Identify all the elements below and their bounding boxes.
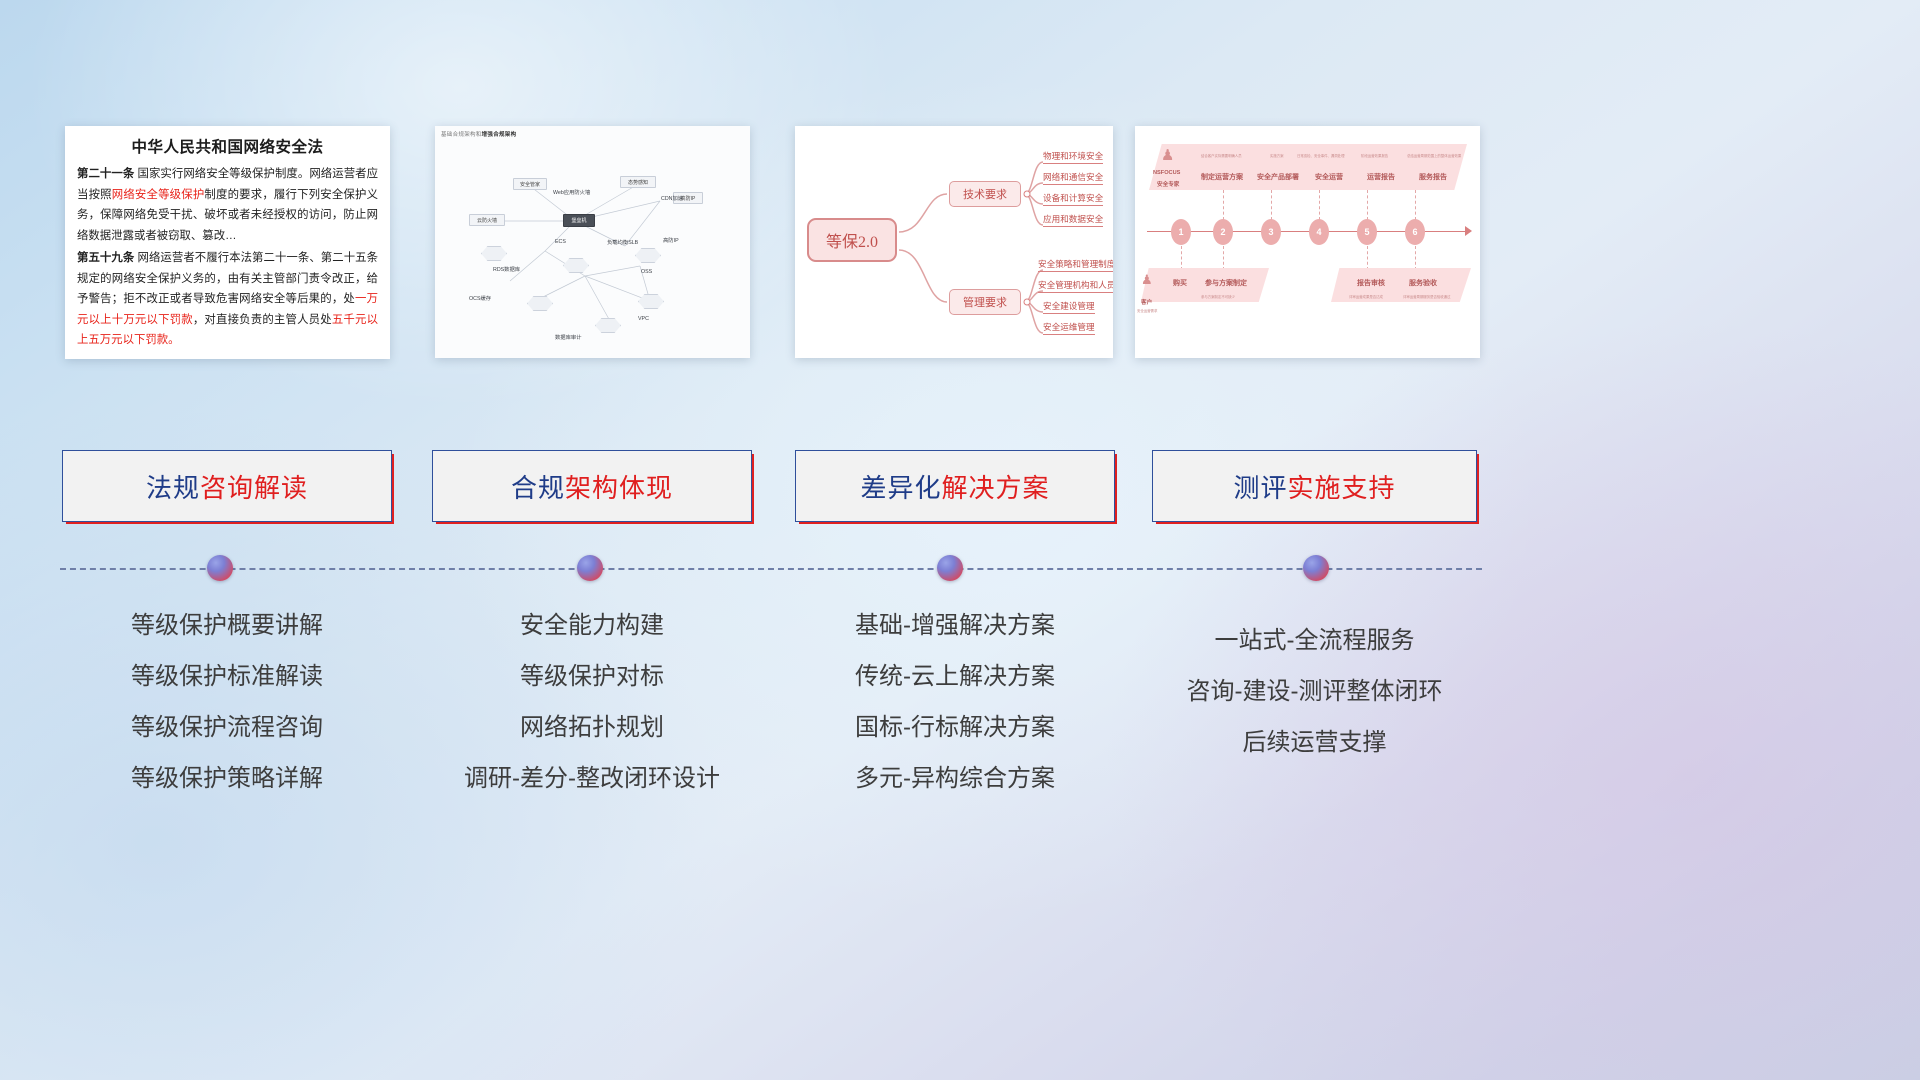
arch-label-cdn: CDN加速 [661,194,683,202]
pill-label-2: 合规架构体现 [511,468,673,505]
pill-label-3: 差异化解决方案 [860,468,1049,505]
list-item: 咨询-建设-测评整体闭环 [1152,666,1477,717]
list-item: 安全能力构建 [432,600,752,651]
pill-label-4: 测评实施支持 [1233,468,1395,505]
list-column-1: 等级保护概要讲解 等级保护标准解读 等级保护流程咨询 等级保护策略详解 [62,600,392,804]
list-item: 等级保护概要讲解 [62,600,392,651]
list-column-3: 基础-增强解决方案 传统-云上解决方案 国标-行标解决方案 多元-异构综合方案 [795,600,1115,804]
list-item: 一站式-全流程服务 [1152,615,1477,666]
arch-label-waf: Web应用防火墙 [553,188,590,196]
step5-main: 运营报告 [1367,172,1395,182]
step5-sub: 阶段运营效果报告 [1361,153,1388,158]
pill-3-blue: 差异化 [860,473,941,503]
pill-box-differentiated-solution[interactable]: 差异化解决方案 [795,450,1115,522]
architecture-connectors [435,126,750,358]
step6-sub: 总结运营周期范围上的整体运营效果 [1407,153,1461,158]
law-article-no-59: 第五十九条 [77,252,134,264]
mindmap-leaf-m1: 安全管理机构和人员 [1038,279,1113,293]
bottom-right-item-1: 服务验收 [1409,278,1437,288]
mindmap-leaf-t0: 物理和环境安全 [1043,150,1103,164]
law-title: 中华人民共和国网络安全法 [77,135,378,157]
list-item: 调研-差分-整改闭环设计 [432,753,752,804]
law-body: 中华人民共和国网络安全法 第二十一条 国家实行网络安全等级保护制度。网络运营者应… [65,126,390,351]
timeline-marker-3[interactable] [937,555,963,581]
mindmap-leaf-m3: 安全运维管理 [1043,321,1095,335]
timeline-dash-2 [1223,190,1224,220]
pill-1-red: 咨询解读 [200,473,308,503]
law-paragraph-21: 第二十一条 国家实行网络安全等级保护制度。网络运营者应当按照网络安全等级保护制度… [77,164,378,246]
step6-main: 服务报告 [1419,172,1447,182]
card-nsfocus-timeline[interactable]: ♟ NSFOCUS 安全专家 结合客户实际需要明确人员 制定运营方案 实施方案 … [1135,126,1480,358]
timeline-top-band [1149,144,1467,190]
step4-main: 安全运营 [1315,172,1343,182]
pill-boxes-row: 法规咨询解读 合规架构体现 差异化解决方案 测评实施支持 [0,450,1920,522]
timeline-node-2: 2 [1213,219,1233,245]
timeline-dash-3 [1271,190,1272,220]
architecture-diagram: 基础合规架构和增强合规架构 堡垒机 安全管家 云防火墙 态势感知 高防IP [435,126,750,358]
bottom-right-sub-1: 评审运营成果是否达成 [1349,294,1383,299]
bottom-left-item-1: 参与方案制定 [1205,278,1247,288]
pill-2-blue: 合规 [511,473,565,503]
arch-label-vpc: VPC [638,316,649,322]
list-item: 基础-增强解决方案 [795,600,1115,651]
law-article-no-21: 第二十一条 [77,168,134,180]
arch-label-dbaudit: 数据库审计 [555,333,582,341]
arch-node-3: 态势感知 [620,176,656,188]
timeline-dash-b2 [1223,246,1224,270]
pill-1-blue: 法规 [146,473,200,503]
mindmap-leaf-m0: 安全策略和管理制度 [1038,258,1113,272]
law-p2-b: ，对直接负责的主管人员处 [193,314,332,326]
timeline-marker-1[interactable] [207,555,233,581]
law-p1-highlight: 网络安全等级保护 [112,189,205,201]
arch-label-ecs: ECS [555,239,566,245]
arch-node-4: 云防火墙 [469,214,505,226]
timeline-dashed-axis [60,568,1482,570]
timeline-arrow-icon [1465,226,1472,236]
pill-box-evaluation-support[interactable]: 测评实施支持 [1152,450,1477,522]
pill-label-1: 法规咨询解读 [146,468,308,505]
arch-node-center: 堡垒机 [563,214,595,227]
timeline-dash-4 [1319,190,1320,220]
expert-person-icon: ♟ [1161,146,1174,164]
arch-label-rds: RDS数据库 [493,265,520,273]
pill-box-regulation-consulting[interactable]: 法规咨询解读 [62,450,392,522]
timeline-dash-b5 [1367,246,1368,270]
customer-label: 客户 [1141,298,1152,306]
timeline-dash-b6 [1415,246,1416,270]
list-item: 等级保护对标 [432,651,752,702]
law-paragraph-59: 第五十九条 网络运营者不履行本法第二十一条、第二十五条规定的网络安全保护义务的，… [77,248,378,351]
timeline-dash-6 [1415,190,1416,220]
card-cybersecurity-law[interactable]: 中华人民共和国网络安全法 第二十一条 国家实行网络安全等级保护制度。网络运营者应… [65,126,390,359]
mindmap-leaf-t1: 网络和通信安全 [1043,171,1103,185]
list-column-4: 一站式-全流程服务 咨询-建设-测评整体闭环 后续运营支撑 [1152,615,1477,768]
timeline-node-4: 4 [1309,219,1329,245]
timeline-node-5: 5 [1357,219,1377,245]
list-item: 等级保护流程咨询 [62,702,392,753]
bottom-right-sub-2: 评审运营周期服务是否验收通过 [1403,294,1450,299]
mindmap-branch-mgmt: 管理要求 [949,289,1021,315]
timeline-node-6: 6 [1405,219,1425,245]
arch-label-oss: OSS [641,269,652,275]
step3-main: 安全产品部署 [1257,172,1299,182]
arch-label-ocs: OCS缓存 [469,294,491,302]
card-mindmap-dengbao[interactable]: 等保2.0 技术要求 管理要求 物理和环境安全 网络和通信安全 设备和计算安全 … [795,126,1113,358]
card-cloud-architecture[interactable]: 基础合规架构和增强合规架构 堡垒机 安全管家 云防火墙 态势感知 高防IP [435,126,750,358]
step2-sub: 结合客户实际需要明确人员 [1201,153,1242,158]
list-item: 等级保护标准解读 [62,651,392,702]
list-item: 传统-云上解决方案 [795,651,1115,702]
bottom-left-sub: 参与方案制定不可缺少 [1201,294,1235,299]
pill-2-red: 架构体现 [565,473,673,503]
expert-label: 安全专家 [1157,180,1179,188]
pill-4-blue: 测评 [1233,473,1287,503]
pill-4-red: 实施支持 [1288,473,1396,503]
timeline-dash-b1 [1181,246,1182,270]
list-item: 多元-异构综合方案 [795,753,1115,804]
list-item: 后续运营支撑 [1152,717,1477,768]
bottom-right-item-0: 报告审核 [1357,278,1385,288]
list-item: 等级保护策略详解 [62,753,392,804]
step4-sub: 日常巡检、安全事件、漏洞处理 [1297,153,1344,158]
bottom-left-item-0: 购买 [1173,278,1187,288]
mindmap: 等保2.0 技术要求 管理要求 物理和环境安全 网络和通信安全 设备和计算安全 … [795,126,1113,358]
expert-brand: NSFOCUS [1153,170,1180,176]
mindmap-leaf-t3: 应用和数据安全 [1043,213,1103,227]
arch-label-hdip: 高防IP [663,236,679,244]
list-item: 网络拓扑规划 [432,702,752,753]
customer-person-icon: ♟ [1141,272,1153,288]
timeline-node-1: 1 [1171,219,1191,245]
mindmap-leaf-m2: 安全建设管理 [1043,300,1095,314]
pill-3-red: 解决方案 [942,473,1050,503]
customer-sub: 安全运营需求 [1137,308,1157,313]
arch-label-slb: 负载均衡SLB [607,238,638,246]
image-cards-row: 中华人民共和国网络安全法 第二十一条 国家实行网络安全等级保护制度。网络运营者应… [0,126,1920,366]
step2-main: 制定运营方案 [1201,172,1243,182]
mindmap-leaf-t2: 设备和计算安全 [1043,192,1103,206]
list-item: 国标-行标解决方案 [795,702,1115,753]
timeline-dash-5 [1367,190,1368,220]
timeline-node-3: 3 [1261,219,1281,245]
mindmap-root: 等保2.0 [807,218,897,262]
timeline-marker-2[interactable] [577,555,603,581]
service-timeline: ♟ NSFOCUS 安全专家 结合客户实际需要明确人员 制定运营方案 实施方案 … [1135,126,1480,358]
mindmap-branch-tech: 技术要求 [949,181,1021,207]
timeline-marker-4[interactable] [1303,555,1329,581]
arch-node-0: 安全管家 [513,178,547,190]
pill-box-compliance-architecture[interactable]: 合规架构体现 [432,450,752,522]
list-column-2: 安全能力构建 等级保护对标 网络拓扑规划 调研-差分-整改闭环设计 [432,600,752,804]
step3-sub: 实施方案 [1270,153,1284,158]
